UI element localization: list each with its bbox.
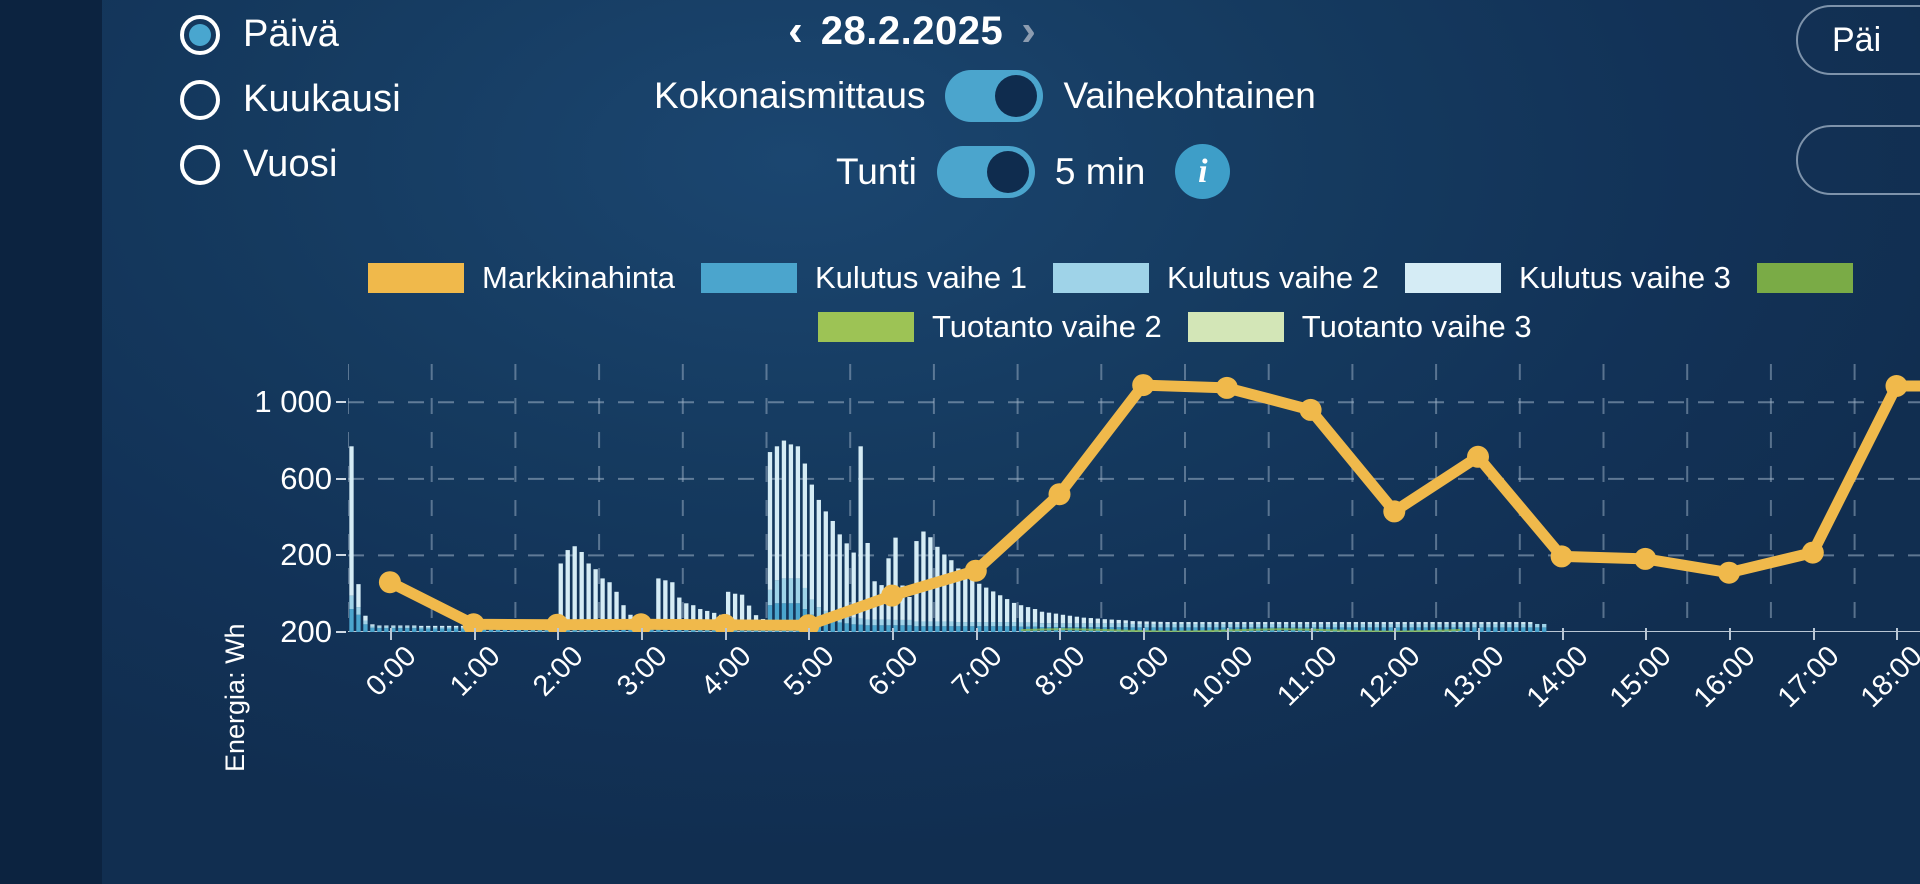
legend-swatch-icon (1053, 263, 1149, 293)
legend-row-1: Markkinahinta Kulutus vaihe 1 Kulutus va… (102, 260, 1920, 296)
switch-knob (987, 151, 1029, 193)
x-axis-tick-label: 2:00 (527, 640, 590, 703)
x-tick-mark (1813, 628, 1815, 640)
radio-label-vuosi: Vuosi (243, 143, 338, 186)
legend-label: Tuotanto vaihe 3 (1302, 309, 1532, 345)
x-tick-mark (725, 628, 727, 640)
legend-item-markkinahinta[interactable]: Markkinahinta (368, 260, 675, 296)
x-axis-tick-label: 15:00 (1604, 640, 1679, 715)
toggle-right-label-5min: 5 min (1055, 151, 1145, 193)
chevron-left-icon[interactable]: ‹ (788, 9, 803, 53)
secondary-button[interactable] (1796, 125, 1920, 195)
info-icon[interactable]: i (1175, 144, 1230, 199)
x-tick-mark (892, 628, 894, 640)
x-tick-mark (1896, 628, 1898, 640)
x-axis-tick-label: 4:00 (695, 640, 758, 703)
content-stage: Päivä Kuukausi Vuosi ‹ 28.2.2025 › Kokon… (102, 0, 1920, 884)
legend-swatch-icon (368, 263, 464, 293)
legend-label: Kulutus vaihe 2 (1167, 260, 1379, 296)
legend-label: Kulutus vaihe 1 (815, 260, 1027, 296)
y-axis-tick: 1 000 (254, 384, 332, 420)
x-tick-mark (641, 628, 643, 640)
x-tick-mark (1562, 628, 1564, 640)
x-axis-tick-label: 17:00 (1771, 640, 1846, 715)
y-tick-mark (336, 631, 346, 633)
x-axis-tick-label: 1:00 (444, 640, 507, 703)
x-axis-tick-label: 3:00 (611, 640, 674, 703)
x-tick-mark (808, 628, 810, 640)
resolution-toggle-row: Tunti 5 min i (836, 144, 1230, 199)
date-navigator: ‹ 28.2.2025 › (742, 0, 1082, 62)
x-tick-mark (1059, 628, 1061, 640)
radio-circle-icon[interactable] (180, 15, 220, 55)
radio-selected-dot-icon (189, 24, 211, 46)
legend-item-kulutus-vaihe-3[interactable]: Kulutus vaihe 3 (1405, 260, 1731, 296)
x-axis-tick-label: 5:00 (778, 640, 841, 703)
x-axis-tick-label: 18:00 (1855, 640, 1920, 715)
y-axis-ticks: 1 000600200200 (102, 352, 348, 632)
legend-swatch-icon (1188, 312, 1284, 342)
x-tick-mark (1645, 628, 1647, 640)
legend-label: Markkinahinta (482, 260, 675, 296)
y-axis-tick: 200 (280, 537, 332, 573)
x-axis-tick-label: 13:00 (1437, 640, 1512, 715)
left-rail (0, 0, 102, 884)
x-axis-tick-label: 0:00 (360, 640, 423, 703)
radio-label-kuukausi: Kuukausi (243, 78, 401, 121)
legend-swatch-icon (1757, 263, 1853, 293)
x-axis-tick-label: 6:00 (862, 640, 925, 703)
x-tick-mark (1143, 628, 1145, 640)
radio-option-vuosi[interactable]: Vuosi (180, 132, 401, 197)
x-axis-tick-label: 16:00 (1688, 640, 1763, 715)
legend-label: Tuotanto vaihe 2 (932, 309, 1162, 345)
y-tick-mark (336, 554, 346, 556)
x-axis-labels: 0:001:002:003:004:005:006:007:008:009:00… (348, 640, 1920, 760)
x-tick-mark (1478, 628, 1480, 640)
period-radio-group: Päivä Kuukausi Vuosi (180, 2, 401, 197)
resolution-switch[interactable] (937, 146, 1035, 198)
toggle-left-label-tunti: Tunti (836, 151, 917, 193)
legend-row-2: Tuotanto vaihe 2 Tuotanto vaihe 3 (102, 309, 1920, 345)
x-tick-mark (1394, 628, 1396, 640)
legend-item-tuotanto-vaihe-1[interactable] (1757, 263, 1871, 293)
radio-option-paiva[interactable]: Päivä (180, 2, 401, 67)
legend-item-kulutus-vaihe-2[interactable]: Kulutus vaihe 2 (1053, 260, 1379, 296)
plot-area (348, 364, 1920, 632)
x-tick-mark (1729, 628, 1731, 640)
x-tick-mark (1227, 628, 1229, 640)
legend-swatch-icon (701, 263, 797, 293)
energy-dashboard: Päivä Kuukausi Vuosi ‹ 28.2.2025 › Kokon… (0, 0, 1920, 884)
radio-option-kuukausi[interactable]: Kuukausi (180, 67, 401, 132)
x-tick-mark (390, 628, 392, 640)
radio-circle-icon[interactable] (180, 145, 220, 185)
legend-swatch-icon (1405, 263, 1501, 293)
legend-label: Kulutus vaihe 3 (1519, 260, 1731, 296)
y-tick-mark (336, 401, 346, 403)
y-axis-tick: 600 (280, 461, 332, 497)
energy-chart: Energia: Wh 1 000600200200 0:001:002:003… (102, 352, 1920, 884)
x-tick-mark (976, 628, 978, 640)
legend-item-kulutus-vaihe-1[interactable]: Kulutus vaihe 1 (701, 260, 1027, 296)
y-axis-tick: 200 (280, 614, 332, 650)
y-axis-title: Energia: Wh (220, 623, 251, 772)
x-axis-tick-label: 9:00 (1113, 640, 1176, 703)
refresh-button[interactable]: Päi (1796, 5, 1920, 75)
legend-item-tuotanto-vaihe-2[interactable]: Tuotanto vaihe 2 (818, 309, 1162, 345)
x-axis-tick-label: 10:00 (1186, 640, 1261, 715)
legend-swatch-icon (818, 312, 914, 342)
x-axis-tick-label: 7:00 (946, 640, 1009, 703)
x-tick-mark (557, 628, 559, 640)
switch-knob (995, 75, 1037, 117)
x-axis-tick-label: 11:00 (1271, 640, 1344, 713)
x-tick-mark (474, 628, 476, 640)
x-axis-tick-label: 8:00 (1030, 640, 1093, 703)
toggle-right-label-vaihekohtainen: Vaihekohtainen (1063, 75, 1315, 117)
measurement-mode-switch[interactable] (945, 70, 1043, 122)
radio-circle-icon[interactable] (180, 80, 220, 120)
x-axis-tick-label: 12:00 (1353, 640, 1428, 715)
plot-svg (348, 364, 1920, 632)
chart-legend: Markkinahinta Kulutus vaihe 1 Kulutus va… (102, 260, 1920, 345)
x-axis-tick-label: 14:00 (1520, 640, 1595, 715)
current-date-label: 28.2.2025 (821, 9, 1003, 54)
chevron-right-icon[interactable]: › (1021, 9, 1036, 53)
radio-label-paiva: Päivä (243, 13, 339, 56)
measurement-mode-toggle-row: Kokonaismittaus Vaihekohtainen (654, 70, 1316, 122)
legend-item-tuotanto-vaihe-3[interactable]: Tuotanto vaihe 3 (1188, 309, 1532, 345)
y-tick-mark (336, 478, 346, 480)
x-tick-mark (1311, 628, 1313, 640)
toggle-left-label-kokonaismittaus: Kokonaismittaus (654, 75, 925, 117)
